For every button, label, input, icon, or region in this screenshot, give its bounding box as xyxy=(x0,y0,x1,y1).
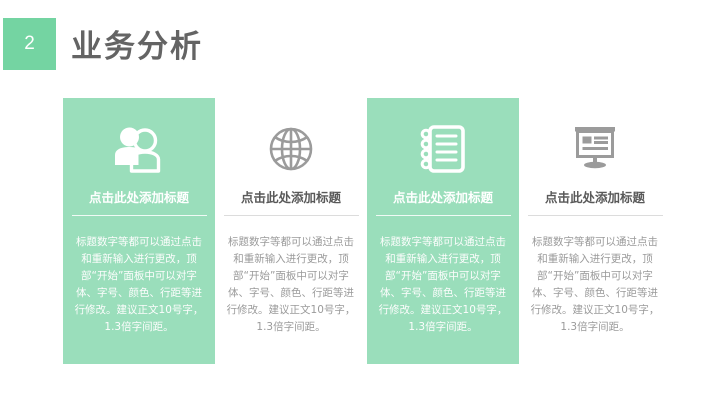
content-card-4[interactable]: 点击此处添加标题 标题数字等都可以通过点击和重新输入进行更改，顶部“开始”面板中… xyxy=(519,98,671,364)
card-body-text: 标题数字等都可以通过点击和重新输入进行更改，顶部“开始”面板中可以对字体、字号、… xyxy=(74,234,204,336)
content-card-row: 点击此处添加标题 标题数字等都可以通过点击和重新输入进行更改，顶部“开始”面板中… xyxy=(63,98,671,364)
globe-icon xyxy=(261,120,321,178)
card-divider xyxy=(376,215,511,216)
card-divider xyxy=(528,215,663,216)
card-title: 点击此处添加标题 xyxy=(89,190,189,206)
card-divider xyxy=(72,215,207,216)
page-title: 业务分析 xyxy=(71,21,203,66)
card-body-text: 标题数字等都可以通过点击和重新输入进行更改，顶部“开始”面板中可以对字体、字号、… xyxy=(530,234,660,336)
slide-number-label: 2 xyxy=(3,18,56,70)
card-body-text: 标题数字等都可以通过点击和重新输入进行更改，顶部“开始”面板中可以对字体、字号、… xyxy=(378,234,508,336)
presentation-board-icon xyxy=(565,120,625,178)
slide-number-badge: 2 xyxy=(3,18,56,70)
card-divider xyxy=(224,215,359,216)
notebook-icon xyxy=(413,120,473,178)
card-title: 点击此处添加标题 xyxy=(545,190,645,206)
card-title: 点击此处添加标题 xyxy=(393,190,493,206)
content-card-2[interactable]: 点击此处添加标题 标题数字等都可以通过点击和重新输入进行更改，顶部“开始”面板中… xyxy=(215,98,367,364)
content-card-3[interactable]: 点击此处添加标题 标题数字等都可以通过点击和重新输入进行更改，顶部“开始”面板中… xyxy=(367,98,519,364)
two-users-icon xyxy=(109,120,169,178)
card-body-text: 标题数字等都可以通过点击和重新输入进行更改，顶部“开始”面板中可以对字体、字号、… xyxy=(226,234,356,336)
content-card-1[interactable]: 点击此处添加标题 标题数字等都可以通过点击和重新输入进行更改，顶部“开始”面板中… xyxy=(63,98,215,364)
card-title: 点击此处添加标题 xyxy=(241,190,341,206)
slide-header: 2 业务分析 xyxy=(0,0,721,95)
